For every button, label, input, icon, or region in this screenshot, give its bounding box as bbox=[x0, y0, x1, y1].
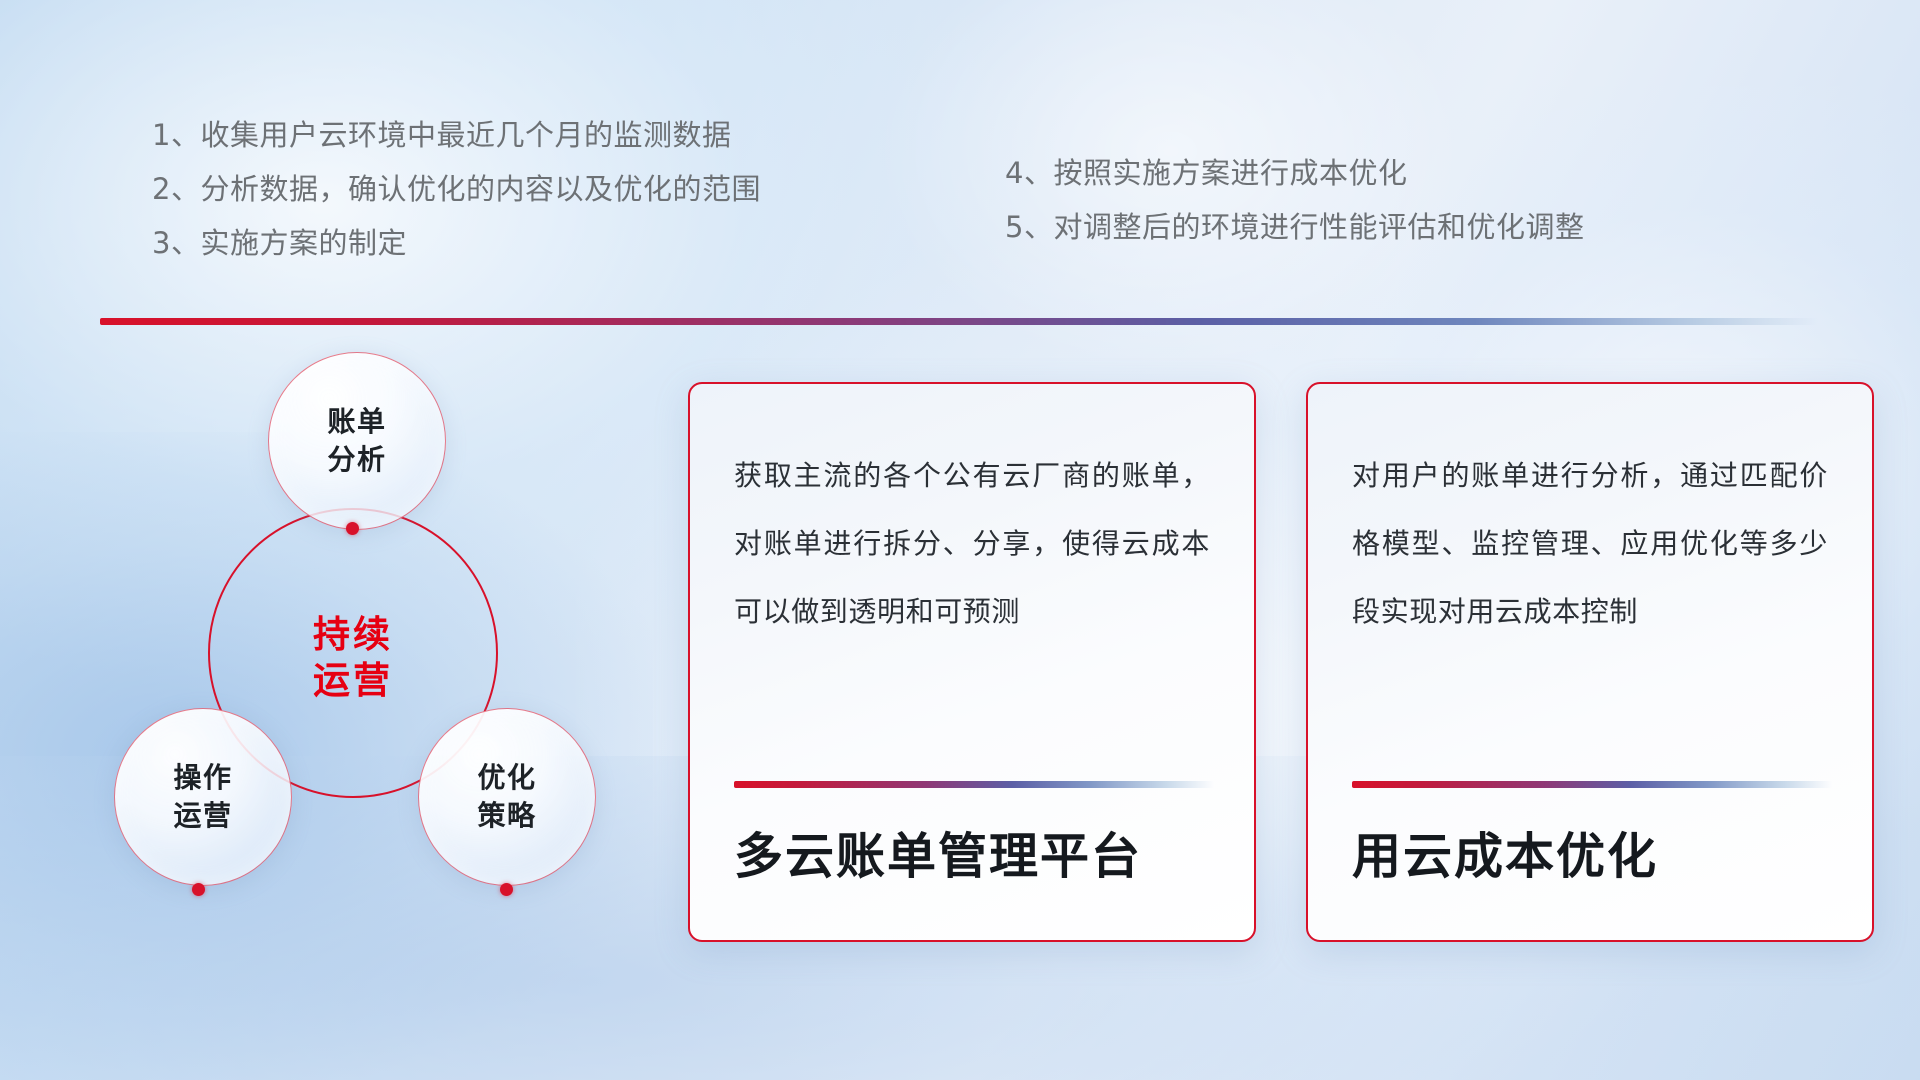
card-body-text: 获取主流的各个公有云厂商的账单，对账单进行拆分、分享，使得云成本可以做到透明和可… bbox=[734, 442, 1210, 646]
diagram-center-label: 持续 运营 bbox=[208, 588, 498, 728]
step-item: 4、按照实施方案进行成本优化 bbox=[1005, 146, 1584, 200]
step-item: 5、对调整后的环境进行性能评估和优化调整 bbox=[1005, 200, 1584, 254]
node-label-line1: 账单 bbox=[327, 403, 386, 441]
card-divider bbox=[1352, 781, 1832, 788]
card-title: 用云成本优化 bbox=[1352, 826, 1832, 888]
step-item: 2、分析数据，确认优化的内容以及优化的范围 bbox=[152, 162, 761, 216]
card-cloud-cost-optimization[interactable]: 对用户的账单进行分析，通过匹配价格模型、监控管理、应用优化等多少段实现对用云成本… bbox=[1306, 382, 1874, 942]
steps-right-column: 4、按照实施方案进行成本优化 5、对调整后的环境进行性能评估和优化调整 bbox=[1005, 146, 1584, 254]
card-divider bbox=[734, 781, 1214, 788]
node-label-line1: 优化 bbox=[477, 759, 536, 797]
node-label-line2: 策略 bbox=[477, 797, 536, 835]
node-label-line1: 操作 bbox=[173, 759, 232, 797]
continuous-operation-diagram: 持续 运营 账单 分析 操作 运营 优化 策略 bbox=[96, 340, 656, 960]
step-item: 3、实施方案的制定 bbox=[152, 216, 761, 270]
connector-dot-top-icon bbox=[346, 522, 359, 535]
connector-dot-left-icon bbox=[192, 883, 205, 896]
center-label-line1: 持续 bbox=[313, 612, 393, 658]
process-steps: 1、收集用户云环境中最近几个月的监测数据 2、分析数据，确认优化的内容以及优化的… bbox=[0, 108, 1920, 298]
step-item: 1、收集用户云环境中最近几个月的监测数据 bbox=[152, 108, 761, 162]
card-multi-cloud-billing[interactable]: 获取主流的各个公有云厂商的账单，对账单进行拆分、分享，使得云成本可以做到透明和可… bbox=[688, 382, 1256, 942]
connector-dot-right-icon bbox=[500, 883, 513, 896]
diagram-node-operation-running[interactable]: 操作 运营 bbox=[114, 708, 292, 886]
steps-left-column: 1、收集用户云环境中最近几个月的监测数据 2、分析数据，确认优化的内容以及优化的… bbox=[152, 108, 761, 270]
node-label-line2: 分析 bbox=[327, 441, 386, 479]
node-label-line2: 运营 bbox=[173, 797, 232, 835]
diagram-node-optimization-policy[interactable]: 优化 策略 bbox=[418, 708, 596, 886]
center-label-line2: 运营 bbox=[313, 658, 393, 704]
section-divider bbox=[100, 318, 1818, 325]
diagram-node-bill-analysis[interactable]: 账单 分析 bbox=[268, 352, 446, 530]
card-title: 多云账单管理平台 bbox=[734, 826, 1214, 888]
card-body-text: 对用户的账单进行分析，通过匹配价格模型、监控管理、应用优化等多少段实现对用云成本… bbox=[1352, 442, 1828, 646]
